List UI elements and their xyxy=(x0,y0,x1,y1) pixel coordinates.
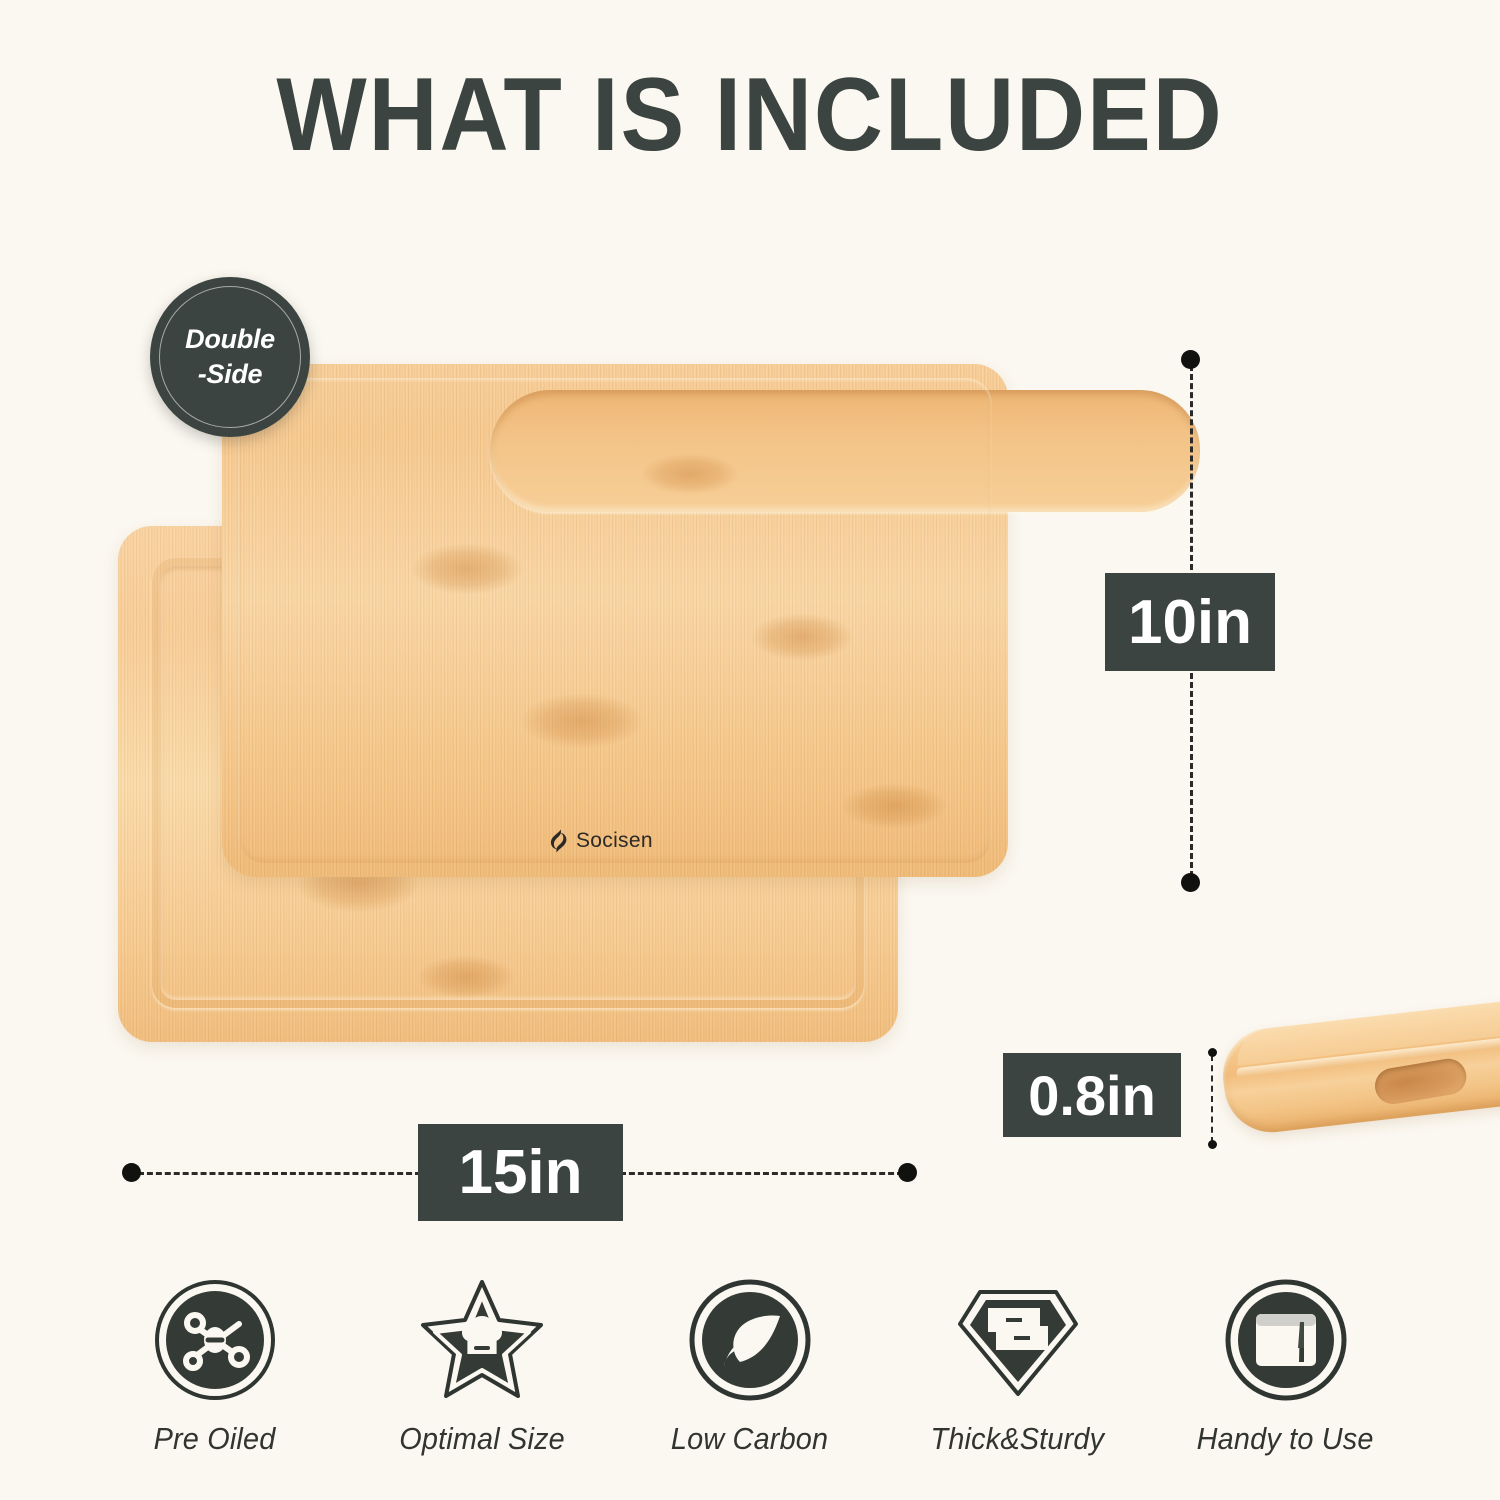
feature-item-thick-sturdy: Thick&Sturdy xyxy=(895,1272,1140,1457)
feature-icon-wrap xyxy=(153,1272,277,1407)
dimension-line-height-upper xyxy=(1190,365,1193,570)
badge-text: Double -Side xyxy=(150,277,310,437)
board-knife-circle-icon xyxy=(1224,1278,1348,1402)
dimension-label-thickness: 0.8in xyxy=(1003,1053,1181,1137)
feature-item-optimal-size: Optimal Size xyxy=(360,1272,605,1457)
dimension-line-width-right xyxy=(620,1172,903,1175)
dimension-dot-small-icon xyxy=(1208,1048,1217,1057)
feature-item-low-carbon: Low Carbon xyxy=(628,1272,873,1457)
feature-item-pre-oiled: Pre Oiled xyxy=(92,1272,337,1457)
badge-line-2: -Side xyxy=(198,357,263,392)
brand-name: Socisen xyxy=(576,829,653,853)
dimension-dot-icon xyxy=(1181,350,1200,369)
dimension-label-width: 15in xyxy=(418,1124,623,1221)
side-view-board xyxy=(1218,997,1500,1166)
double-side-badge: Double -Side xyxy=(150,277,310,437)
feature-item-handy-to-use: Handy to Use xyxy=(1163,1272,1408,1457)
feature-icon-wrap xyxy=(417,1272,547,1407)
dimension-label-height: 10in xyxy=(1105,573,1275,671)
feature-icon-wrap xyxy=(1224,1272,1348,1407)
infographic-canvas: WHAT IS INCLUDED Socisen Double -Side xyxy=(0,0,1500,1500)
front-cutting-board xyxy=(222,364,1008,877)
dimension-dot-icon xyxy=(1181,873,1200,892)
dimension-line-width-left xyxy=(138,1172,421,1175)
feature-list: Pre Oiled Optimal Size xyxy=(0,1272,1500,1487)
feature-icon-wrap xyxy=(954,1272,1082,1407)
feature-icon-wrap xyxy=(688,1272,812,1407)
flame-mark-icon xyxy=(548,829,567,853)
badge-line-1: Double xyxy=(185,322,275,357)
board-rim xyxy=(238,378,992,863)
dimension-line-thickness xyxy=(1211,1055,1213,1143)
feature-label: Low Carbon xyxy=(671,1421,828,1457)
leaf-circle-icon xyxy=(688,1278,812,1402)
page-title: WHAT IS INCLUDED xyxy=(60,56,1440,175)
feature-label: Handy to Use xyxy=(1197,1421,1374,1457)
chef-hat-star-icon xyxy=(417,1278,547,1402)
slabs-diamond-icon xyxy=(954,1278,1082,1402)
feature-label: Pre Oiled xyxy=(154,1421,276,1457)
feature-label: Optimal Size xyxy=(399,1421,565,1457)
dimension-line-height-lower xyxy=(1190,673,1193,877)
brand-logo: Socisen xyxy=(548,829,653,853)
dimension-dot-icon xyxy=(122,1163,141,1182)
oil-molecule-circle-icon xyxy=(153,1278,277,1402)
dimension-dot-small-icon xyxy=(1208,1140,1217,1149)
dimension-dot-icon xyxy=(898,1163,917,1182)
feature-label: Thick&Sturdy xyxy=(931,1421,1105,1457)
